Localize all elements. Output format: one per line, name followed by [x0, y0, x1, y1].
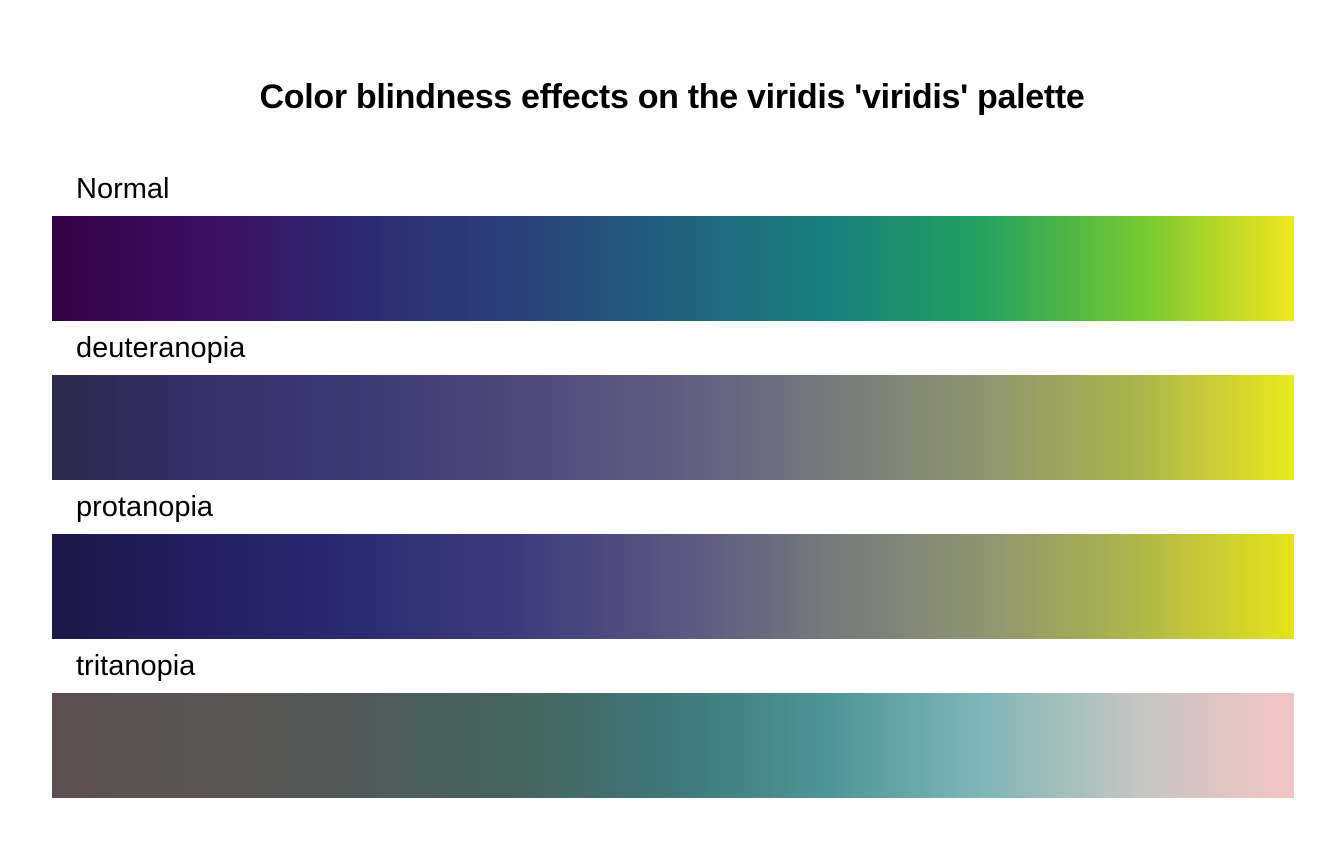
- palette-rows: Normal deuteranopia protanopia tritanopi…: [52, 162, 1294, 798]
- color-ramp-protanopia: [52, 534, 1294, 639]
- color-ramp-canvas-normal: [52, 216, 1294, 321]
- palette-label-normal: Normal: [52, 162, 1294, 216]
- color-ramp-normal: [52, 216, 1294, 321]
- palette-row-deuteranopia: deuteranopia: [52, 321, 1294, 480]
- palette-row-normal: Normal: [52, 162, 1294, 321]
- page-title: Color blindness effects on the viridis '…: [0, 78, 1344, 117]
- palette-label-tritanopia: tritanopia: [52, 639, 1294, 693]
- color-ramp-canvas-tritanopia: [52, 693, 1294, 798]
- color-ramp-deuteranopia: [52, 375, 1294, 480]
- palette-row-protanopia: protanopia: [52, 480, 1294, 639]
- palette-row-tritanopia: tritanopia: [52, 639, 1294, 798]
- palette-label-deuteranopia: deuteranopia: [52, 321, 1294, 375]
- figure-canvas: Color blindness effects on the viridis '…: [0, 0, 1344, 864]
- color-ramp-canvas-protanopia: [52, 534, 1294, 639]
- palette-label-protanopia: protanopia: [52, 480, 1294, 534]
- color-ramp-canvas-deuteranopia: [52, 375, 1294, 480]
- color-ramp-tritanopia: [52, 693, 1294, 798]
